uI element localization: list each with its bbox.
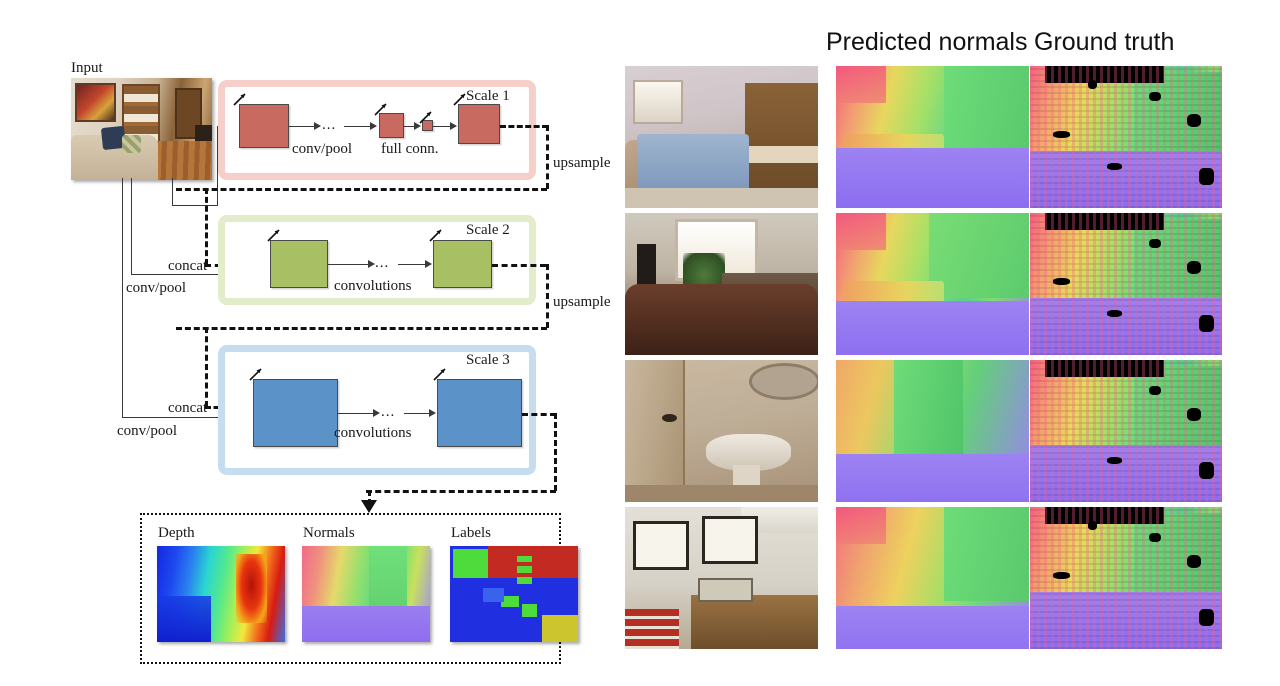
scale1-convpool-label: conv/pool xyxy=(292,141,352,158)
figure-canvas: Input conv/pool conv/pool Scale 1 ... xyxy=(0,0,1280,686)
scale3-arrow-2 xyxy=(429,409,436,417)
block-tick-icon xyxy=(373,102,389,116)
scale2-conv-block-1 xyxy=(270,240,328,288)
output-depth-map xyxy=(157,546,285,642)
result-ground-truth-3 xyxy=(1030,360,1222,502)
block-tick-icon xyxy=(266,228,282,242)
block-tick-icon xyxy=(452,92,468,106)
result-ground-truth-1 xyxy=(1030,66,1222,208)
scale2-upsample-dash-h2 xyxy=(176,327,547,330)
scale2-upsample-dash-v xyxy=(546,264,549,328)
scale1-line-2 xyxy=(344,126,372,127)
scale1-line-1 xyxy=(289,126,316,127)
scale2-arrow-2 xyxy=(425,260,432,268)
scale3-out-dash-h2 xyxy=(366,490,556,493)
scale2-upsample-label: upsample xyxy=(553,294,611,311)
input-label: Input xyxy=(71,60,103,77)
input-branch-line-1 xyxy=(172,178,173,206)
scale2-convpool-label: conv/pool xyxy=(126,280,186,297)
scale3-output-block xyxy=(437,379,522,447)
scale1-arrow-4 xyxy=(450,122,457,130)
scale1-upsample-dash-h1 xyxy=(500,125,548,128)
scale1-conv-block-2 xyxy=(379,113,404,138)
scale3-conv-block-1 xyxy=(253,379,338,447)
block-tick-icon xyxy=(428,228,444,242)
result-input-image-2 xyxy=(625,213,818,355)
result-predicted-normals-1 xyxy=(836,66,1029,208)
scale2-line-2 xyxy=(398,264,428,265)
scale2-convolutions-label: convolutions xyxy=(334,278,412,295)
scale1-concat-dash-v xyxy=(205,188,208,265)
predicted-normals-heading: Predicted normals xyxy=(826,28,1027,57)
result-input-image-4 xyxy=(625,507,818,649)
scale1-ellipsis: ... xyxy=(322,117,336,134)
result-input-image-1 xyxy=(625,66,818,208)
scale1-upsample-label: upsample xyxy=(553,155,611,172)
scale2-arrow-1 xyxy=(368,260,375,268)
output-normals-label: Normals xyxy=(303,525,355,542)
output-labels-label: Labels xyxy=(451,525,491,542)
input-image xyxy=(71,78,212,180)
scale1-output-block xyxy=(458,104,500,144)
input-branch-line-3 xyxy=(122,178,123,418)
block-tick-icon xyxy=(432,367,448,381)
scale3-out-dash-v xyxy=(554,413,557,491)
scale1-arrow-1 xyxy=(314,122,321,130)
scale1-fullconn-label: full conn. xyxy=(381,141,439,158)
input-branch-line-1b xyxy=(172,205,218,206)
result-input-image-3 xyxy=(625,360,818,502)
result-predicted-normals-3 xyxy=(836,360,1029,502)
scale2-upsample-dash-h1 xyxy=(492,264,546,267)
scale-1-title: Scale 1 xyxy=(466,88,510,105)
scale3-ellipsis: ... xyxy=(381,404,395,421)
scale3-line-1 xyxy=(338,413,376,414)
scale2-ellipsis: ... xyxy=(375,255,389,272)
ground-truth-heading: Ground truth xyxy=(1034,28,1174,57)
scale2-concat-dash-v xyxy=(205,327,208,407)
scale1-conv-block-1 xyxy=(239,104,289,148)
scale-3-title: Scale 3 xyxy=(466,352,510,369)
scale3-concat-label: concat xyxy=(168,400,207,417)
scale3-convpool-label: conv/pool xyxy=(117,423,177,440)
result-ground-truth-4 xyxy=(1030,507,1222,649)
outputs-entry-arrow xyxy=(361,500,377,513)
block-tick-icon xyxy=(418,110,434,124)
scale3-out-dash-h1 xyxy=(522,413,556,416)
result-predicted-normals-2 xyxy=(836,213,1029,355)
result-predicted-normals-4 xyxy=(836,507,1029,649)
scale-2-title: Scale 2 xyxy=(466,222,510,239)
scale2-output-block xyxy=(433,240,492,288)
scale1-upsample-dash-h2 xyxy=(176,188,547,191)
input-branch-line-2 xyxy=(131,178,132,275)
output-labels-map xyxy=(450,546,578,642)
scale1-upsample-dash-v xyxy=(546,125,549,189)
scale3-convolutions-label: convolutions xyxy=(334,425,412,442)
scale3-line-2 xyxy=(404,413,432,414)
scale3-arrow-1 xyxy=(373,409,380,417)
scale1-arrow-2 xyxy=(370,122,377,130)
output-normals-map xyxy=(302,546,430,642)
scale2-line-1 xyxy=(328,264,370,265)
block-tick-icon xyxy=(248,367,264,381)
output-depth-label: Depth xyxy=(158,525,195,542)
block-tick-icon xyxy=(232,92,248,106)
result-ground-truth-2 xyxy=(1030,213,1222,355)
scale2-concat-label: concat xyxy=(168,258,207,275)
